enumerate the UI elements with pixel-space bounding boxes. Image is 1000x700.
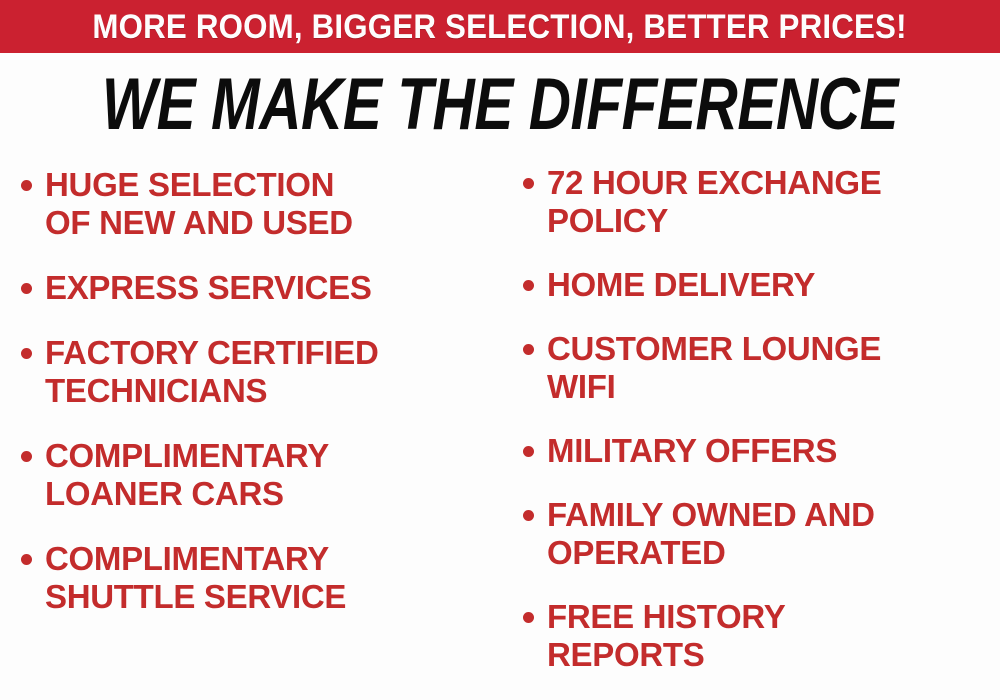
list-item: HUGE SELECTION OF NEW AND USED	[21, 166, 500, 242]
benefit-label: MILITARY OFFERS	[547, 432, 837, 470]
headline-container: WE MAKE THE DIFFERENCE	[0, 64, 1000, 144]
benefit-label: 72 HOUR EXCHANGE POLICY	[547, 164, 881, 240]
benefit-label: FACTORY CERTIFIED TECHNICIANS	[45, 334, 379, 410]
dealership-advertisement: MORE ROOM, BIGGER SELECTION, BETTER PRIC…	[0, 0, 1000, 694]
list-item: FAMILY OWNED AND OPERATED	[523, 496, 1000, 572]
list-item: 72 HOUR EXCHANGE POLICY	[523, 164, 1000, 240]
benefits-columns: HUGE SELECTION OF NEW AND USED EXPRESS S…	[0, 152, 1000, 694]
promo-banner-text: MORE ROOM, BIGGER SELECTION, BETTER PRIC…	[93, 10, 907, 44]
bullet-dot-icon	[523, 446, 534, 457]
benefit-label: COMPLIMENTARY SHUTTLE SERVICE	[45, 540, 346, 616]
bullet-dot-icon	[523, 510, 534, 521]
benefits-column-right: 72 HOUR EXCHANGE POLICY HOME DELIVERY CU…	[500, 152, 1000, 700]
list-item: CUSTOMER LOUNGE WIFI	[523, 330, 1000, 406]
list-item: EXPRESS SERVICES	[21, 269, 500, 307]
bullet-dot-icon	[523, 344, 534, 355]
bullet-dot-icon	[523, 612, 534, 623]
benefit-label: HUGE SELECTION OF NEW AND USED	[45, 166, 353, 242]
page-title: WE MAKE THE DIFFERENCE	[102, 66, 898, 142]
bullet-dot-icon	[523, 178, 534, 189]
benefit-label: HOME DELIVERY	[547, 266, 815, 304]
bullet-dot-icon	[21, 180, 32, 191]
benefits-column-left: HUGE SELECTION OF NEW AND USED EXPRESS S…	[0, 152, 500, 643]
bullet-dot-icon	[21, 554, 32, 565]
benefit-label: FREE HISTORY REPORTS	[547, 598, 785, 674]
list-item: FREE HISTORY REPORTS	[523, 598, 1000, 674]
list-item: MILITARY OFFERS	[523, 432, 1000, 470]
bullet-dot-icon	[523, 280, 534, 291]
bullet-dot-icon	[21, 348, 32, 359]
benefit-label: CUSTOMER LOUNGE WIFI	[547, 330, 881, 406]
list-item: FACTORY CERTIFIED TECHNICIANS	[21, 334, 500, 410]
bullet-dot-icon	[21, 451, 32, 462]
benefit-label: FAMILY OWNED AND OPERATED	[547, 496, 875, 572]
list-item: COMPLIMENTARY SHUTTLE SERVICE	[21, 540, 500, 616]
benefit-label: COMPLIMENTARY LOANER CARS	[45, 437, 329, 513]
bullet-dot-icon	[21, 283, 32, 294]
list-item: COMPLIMENTARY LOANER CARS	[21, 437, 500, 513]
list-item: HOME DELIVERY	[523, 266, 1000, 304]
promo-banner: MORE ROOM, BIGGER SELECTION, BETTER PRIC…	[0, 0, 1000, 53]
benefit-label: EXPRESS SERVICES	[45, 269, 372, 307]
